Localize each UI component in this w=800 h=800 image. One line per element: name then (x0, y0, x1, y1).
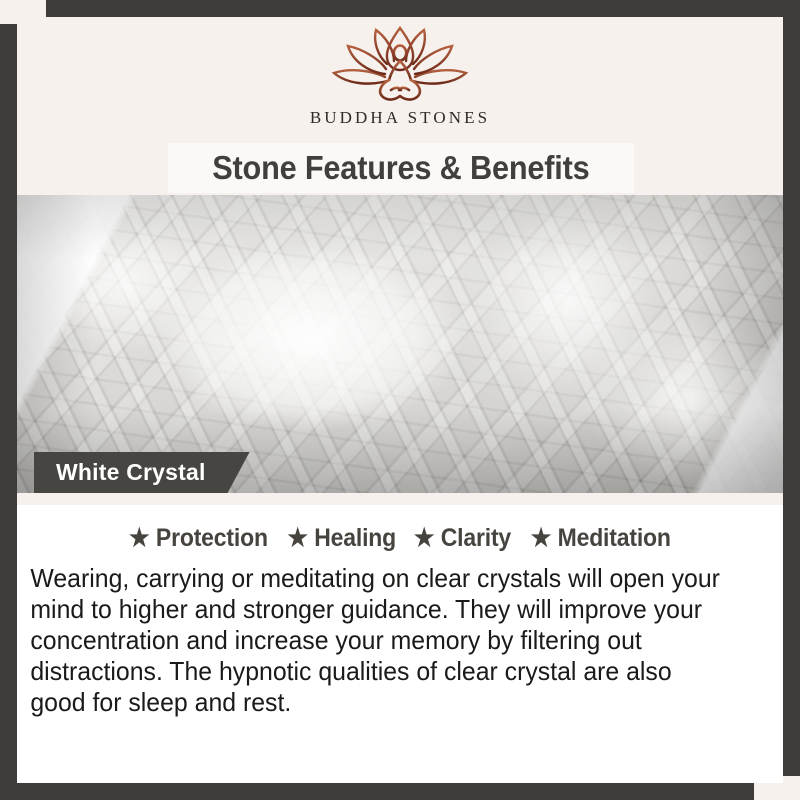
title-band: Stone Features & Benefits (168, 143, 634, 193)
page-title: Stone Features & Benefits (212, 149, 589, 187)
benefit-item: ★ Clarity (406, 524, 511, 553)
benefit-label: Healing (314, 524, 396, 553)
brand-header: BUDDHA STONES (17, 17, 783, 143)
star-icon: ★ (129, 526, 149, 551)
benefits-row: ★ Protection ★ Healing ★ Clarity ★ Medit… (17, 524, 783, 553)
product-feature-poster: BUDDHA STONES Stone Features & Benefits … (0, 0, 800, 800)
lotus-meditation-figure-icon (325, 24, 475, 106)
benefit-item: ★ Protection (129, 524, 268, 553)
benefit-item: ★ Healing (279, 524, 396, 553)
crystal-photo: White Crystal (17, 195, 783, 493)
photo-caption-label: White Crystal (56, 459, 206, 486)
brand-name: BUDDHA STONES (310, 108, 490, 128)
benefit-label: Meditation (557, 524, 670, 553)
body-panel: ★ Protection ★ Healing ★ Clarity ★ Medit… (17, 505, 783, 783)
description-paragraph: Wearing, carrying or meditating on clear… (17, 563, 749, 718)
section-separator (17, 493, 783, 505)
photo-caption-banner: White Crystal (34, 452, 250, 493)
benefit-label: Clarity (441, 524, 511, 553)
benefit-label: Protection (156, 524, 268, 553)
crystal-photo-shading (17, 195, 783, 493)
poster-canvas: BUDDHA STONES Stone Features & Benefits … (17, 17, 783, 783)
benefit-item: ★ Meditation (522, 524, 670, 553)
star-icon: ★ (414, 526, 434, 551)
star-icon: ★ (530, 526, 550, 551)
star-icon: ★ (287, 526, 307, 551)
